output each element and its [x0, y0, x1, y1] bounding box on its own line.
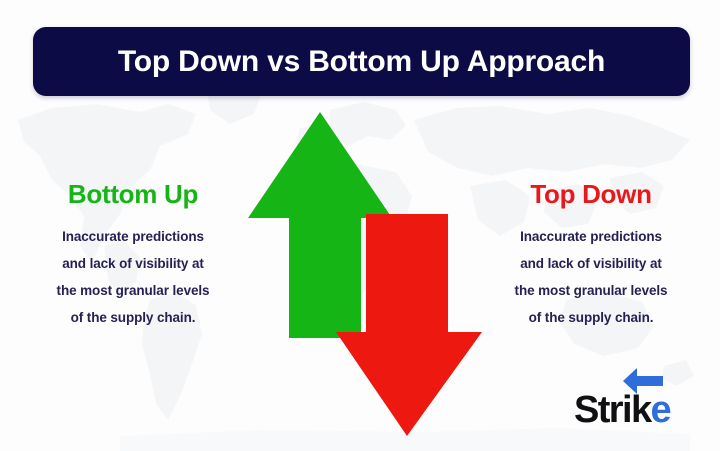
infographic-canvas: Top Down vs Bottom Up Approach Bottom Up…	[0, 0, 720, 451]
page-title: Top Down vs Bottom Up Approach	[118, 45, 605, 79]
top-down-line-3: the most granular levels	[473, 277, 709, 304]
bottom-up-description: Inaccurate predictions and lack of visib…	[15, 223, 251, 331]
arrow-down-icon	[336, 214, 482, 436]
logo-text-dark: Strik	[574, 391, 650, 429]
logo-text-accent: e	[650, 389, 670, 431]
top-down-line-1: Inaccurate predictions	[473, 223, 709, 250]
top-down-heading: Top Down	[473, 180, 709, 209]
brand-logo: Strik e	[574, 391, 670, 433]
bottom-up-line-2: and lack of visibility at	[15, 250, 251, 277]
top-down-line-4: of the supply chain.	[473, 304, 709, 331]
top-down-line-2: and lack of visibility at	[473, 250, 709, 277]
title-banner: Top Down vs Bottom Up Approach	[33, 27, 690, 96]
bottom-up-heading: Bottom Up	[15, 180, 251, 209]
top-down-description: Inaccurate predictions and lack of visib…	[473, 223, 709, 331]
top-down-column: Top Down Inaccurate predictions and lack…	[473, 180, 709, 331]
bottom-up-column: Bottom Up Inaccurate predictions and lac…	[15, 180, 251, 331]
bottom-up-line-3: the most granular levels	[15, 277, 251, 304]
bottom-up-line-4: of the supply chain.	[15, 304, 251, 331]
bottom-up-line-1: Inaccurate predictions	[15, 223, 251, 250]
logo-accent-group: e	[650, 391, 670, 429]
